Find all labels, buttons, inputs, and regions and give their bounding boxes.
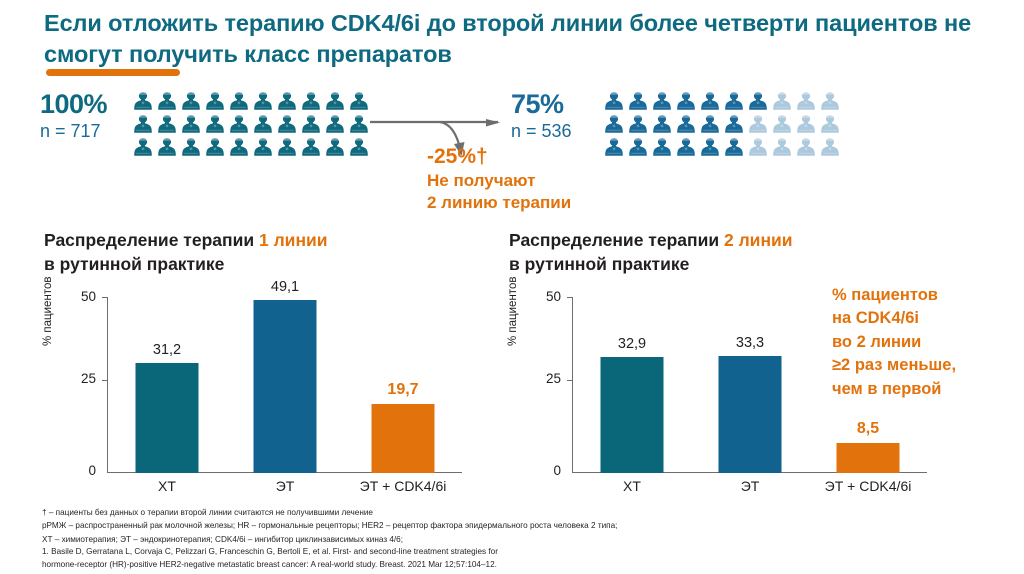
- person-icon-filled: [204, 137, 228, 159]
- y-axis-title: % пациентов: [42, 277, 54, 346]
- y-axis-title: % пациентов: [507, 277, 519, 346]
- person-icon-filled: [276, 91, 300, 113]
- person-icon-filled: [300, 91, 324, 113]
- person-icon-filled: [627, 91, 651, 113]
- person-icon-filled: [276, 114, 300, 136]
- person-icon-filled: [300, 137, 324, 159]
- person-icon-filled: [324, 114, 348, 136]
- person-icon-muted: [819, 137, 843, 159]
- bar-slot: 19,7: [344, 297, 462, 473]
- person-icon-muted: [747, 114, 771, 136]
- footnote-line-2: рРМЖ – распространенный рак молочной жел…: [42, 519, 992, 532]
- person-icon-filled: [252, 114, 276, 136]
- footnote-line-1: † – пациенты без данных о терапии второй…: [42, 506, 992, 519]
- person-icon-filled: [675, 114, 699, 136]
- side-annotation-line-3: во 2 линии: [832, 331, 1022, 354]
- person-icon-muted: [795, 91, 819, 113]
- person-icon-filled: [627, 114, 651, 136]
- delta-line-2: 2 линию терапии: [427, 192, 642, 214]
- pictogram-right-n: n = 536: [511, 118, 603, 145]
- plot-area: 31,249,119,7: [108, 297, 462, 473]
- side-annotation-line-1: % пациентов: [832, 284, 1022, 307]
- y-axis-tick-label: 25: [62, 371, 96, 386]
- person-icon-muted: [771, 137, 795, 159]
- chart-header-left-accent: 1 линии: [259, 230, 328, 250]
- chart-header-right-prefix: Распределение терапии: [509, 230, 724, 250]
- person-icon-filled: [156, 91, 180, 113]
- person-icon-filled: [300, 114, 324, 136]
- person-icon-filled: [651, 114, 675, 136]
- pictogram-right: 75% n = 536: [511, 88, 923, 160]
- bar-3[interactable]: [837, 443, 900, 473]
- bar-1[interactable]: [601, 357, 664, 473]
- bar-value-label: 31,2: [153, 342, 181, 358]
- person-icon-filled: [723, 137, 747, 159]
- y-axis-tick-label: 0: [62, 463, 96, 478]
- person-icon-muted: [819, 114, 843, 136]
- x-axis-category-label: ЭТ + CDK4/6i: [809, 478, 927, 494]
- pictogram-row: [603, 91, 923, 114]
- chart-header-left-prefix: Распределение терапии: [44, 230, 259, 250]
- chart-header-left-secondline: в рутинной практике: [44, 254, 224, 274]
- side-annotation-line-4: ≥2 раз меньше,: [832, 354, 1022, 377]
- pictogram-row: [132, 91, 452, 114]
- side-annotation-line-2: на CDK4/6i: [832, 307, 1022, 330]
- person-icon-filled: [348, 91, 372, 113]
- person-icon-filled: [180, 114, 204, 136]
- chart-header-right-secondline: в рутинной практике: [509, 254, 689, 274]
- person-icon-filled: [156, 137, 180, 159]
- pictogram-left-percent: 100%: [40, 90, 132, 118]
- side-annotation-line-5: чем в первой: [832, 378, 1022, 401]
- bar-3[interactable]: [372, 404, 435, 473]
- chart-header-right: Распределение терапии 2 линии в рутинной…: [509, 229, 939, 276]
- person-icon-filled: [180, 137, 204, 159]
- page-title: Если отложить терапию CDK4/6i до второй …: [44, 8, 984, 71]
- person-icon-filled: [228, 137, 252, 159]
- person-icon-filled: [603, 91, 627, 113]
- delta-line-1: Не получают: [427, 170, 642, 192]
- bar-1[interactable]: [136, 363, 199, 473]
- bar-value-label: 49,1: [271, 279, 299, 295]
- bar-value-label: 8,5: [857, 420, 879, 438]
- person-icon-filled: [699, 91, 723, 113]
- bar-2[interactable]: [254, 300, 317, 473]
- person-icon-filled: [699, 114, 723, 136]
- pictogram-row: [603, 137, 923, 160]
- x-axis-category-label: ХТ: [573, 478, 691, 494]
- y-axis-tick-label: 50: [527, 289, 561, 304]
- side-annotation: % пациентов на CDK4/6i во 2 линии ≥2 раз…: [832, 284, 1022, 401]
- pictogram-left-n: n = 717: [40, 118, 132, 145]
- pictogram-right-grid: [603, 88, 923, 160]
- person-icon-filled: [324, 137, 348, 159]
- person-icon-filled: [603, 114, 627, 136]
- footnotes: † – пациенты без данных о терапии второй…: [42, 506, 992, 546]
- person-icon-filled: [675, 137, 699, 159]
- person-icon-filled: [651, 91, 675, 113]
- pictogram-right-percent: 75%: [511, 90, 603, 118]
- person-icon-filled: [132, 114, 156, 136]
- reference-line-2: hormone-receptor (HR)-positive HER2-nega…: [42, 558, 992, 571]
- bar-value-label: 33,3: [736, 335, 764, 351]
- person-icon-muted: [747, 137, 771, 159]
- person-icon-filled: [228, 91, 252, 113]
- pictogram-right-stat: 75% n = 536: [511, 88, 603, 145]
- person-icon-filled: [627, 137, 651, 159]
- reference-line-1: 1. Basile D, Gerratana L, Corvaja C, Pel…: [42, 545, 992, 558]
- person-icon-filled: [204, 91, 228, 113]
- person-icon-filled: [252, 91, 276, 113]
- person-icon-filled: [156, 114, 180, 136]
- person-icon-filled: [204, 114, 228, 136]
- y-axis-tick-label: 25: [527, 371, 561, 386]
- title-underline-rule: [46, 69, 180, 76]
- person-icon-muted: [795, 137, 819, 159]
- person-icon-filled: [132, 91, 156, 113]
- bar-slot: 33,3: [691, 297, 809, 473]
- chart-header-right-accent: 2 линии: [724, 230, 793, 250]
- bar-value-label: 19,7: [387, 381, 418, 399]
- y-axis-tick-label: 0: [527, 463, 561, 478]
- person-icon-muted: [771, 114, 795, 136]
- x-axis-category-label: ХТ: [108, 478, 226, 494]
- bar-slot: 31,2: [108, 297, 226, 473]
- x-axis-category-label: ЭТ: [691, 478, 809, 494]
- person-icon-filled: [651, 137, 675, 159]
- person-icon-muted: [819, 91, 843, 113]
- footnote-line-3: ХТ – химиотерапия; ЭТ – эндокринотерапия…: [42, 533, 992, 546]
- chart-header-left: Распределение терапии 1 линии в рутинной…: [44, 229, 474, 276]
- reference-citation: 1. Basile D, Gerratana L, Corvaja C, Pel…: [42, 545, 992, 571]
- person-icon-filled: [180, 91, 204, 113]
- person-icon-filled: [603, 137, 627, 159]
- person-icon-filled: [276, 137, 300, 159]
- person-icon-filled: [324, 91, 348, 113]
- bar-slot: 49,1: [226, 297, 344, 473]
- person-icon-filled: [675, 91, 699, 113]
- bar-value-label: 32,9: [618, 336, 646, 352]
- person-icon-filled: [723, 114, 747, 136]
- y-axis-tick-label: 50: [62, 289, 96, 304]
- person-icon-filled: [747, 91, 771, 113]
- x-axis-category-label: ЭТ: [226, 478, 344, 494]
- pictogram-row: [603, 114, 923, 137]
- person-icon-muted: [795, 114, 819, 136]
- person-icon-filled: [228, 114, 252, 136]
- x-axis-category-label: ЭТ + CDK4/6i: [344, 478, 462, 494]
- person-icon-filled: [132, 137, 156, 159]
- person-icon-muted: [771, 91, 795, 113]
- person-icon-filled: [252, 137, 276, 159]
- person-icon-filled: [699, 137, 723, 159]
- bar-chart-first-line: % пациентов0255031,249,119,7ХТЭТЭТ + CDK…: [44, 288, 474, 510]
- person-icon-filled: [723, 91, 747, 113]
- bar-slot: 32,9: [573, 297, 691, 473]
- pictogram-left-stat: 100% n = 717: [40, 88, 132, 145]
- bar-2[interactable]: [719, 356, 782, 473]
